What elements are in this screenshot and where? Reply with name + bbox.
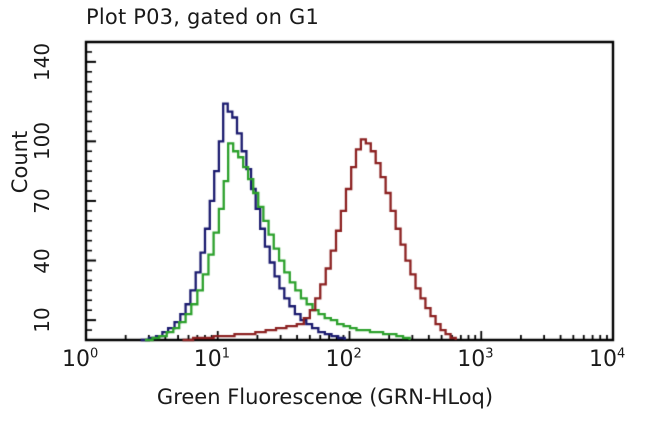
x-tick-label: 103 xyxy=(457,348,493,372)
x-tick-mantissa: 10 xyxy=(457,347,485,372)
y-tick-label: 70 xyxy=(32,179,52,223)
x-tick-label: 104 xyxy=(589,348,625,372)
x-tick-mantissa: 10 xyxy=(62,347,90,372)
x-tick-exponent: 4 xyxy=(617,347,625,362)
y-tick-label: 100 xyxy=(32,119,52,163)
x-tick-exponent: 0 xyxy=(90,347,98,362)
x-tick-exponent: 1 xyxy=(222,347,230,362)
x-tick-exponent: 3 xyxy=(485,347,493,362)
x-tick-mantissa: 10 xyxy=(589,347,617,372)
x-tick-mantissa: 10 xyxy=(326,347,354,372)
y-tick-label: 140 xyxy=(32,40,52,84)
flow-cytometry-histogram-figure: Plot P03, gated on G1 Count Green Fluore… xyxy=(0,0,650,434)
y-tick-label: 10 xyxy=(32,298,52,342)
x-tick-label: 101 xyxy=(194,348,230,372)
x-tick-mantissa: 10 xyxy=(194,347,222,372)
x-tick-label: 100 xyxy=(62,348,98,372)
y-tick-label: 40 xyxy=(32,239,52,283)
x-tick-exponent: 2 xyxy=(354,347,362,362)
x-tick-label: 102 xyxy=(326,348,362,372)
